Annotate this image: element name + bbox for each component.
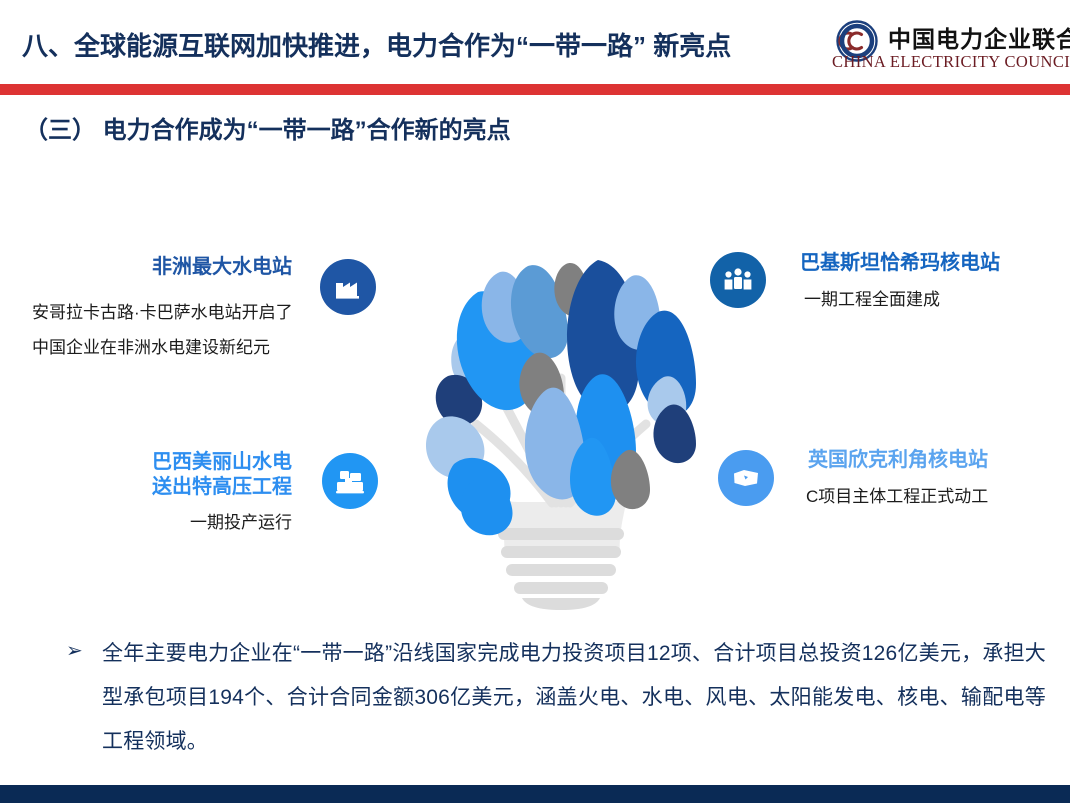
footer-bar xyxy=(0,785,1070,803)
organization-logo: 中国电力企业联合会 CHINA ELECTRICITY COUNCIL xyxy=(830,18,1062,80)
feature-block-brazil: 巴西美丽山水电 送出特高压工程 一期投产运行 xyxy=(0,445,420,555)
feature-block-africa: 非洲最大水电站 安哥拉卡古路·卡巴萨水电站开启了中国企业在非洲水电建设新纪元 xyxy=(0,250,420,415)
logo-english-name: CHINA ELECTRICITY COUNCIL xyxy=(832,52,1070,72)
factory-icon xyxy=(320,259,376,315)
page-title: 八、全球能源互联网加快推进，电力合作为“一带一路” 新亮点 xyxy=(22,26,731,63)
feature-body-africa: 安哥拉卡古路·卡巴萨水电站开启了中国企业在非洲水电建设新纪元 xyxy=(32,295,300,365)
feature-heading-brazil-line1: 巴西美丽山水电 xyxy=(152,451,292,473)
feature-body-brazil: 一期投产运行 xyxy=(0,511,292,535)
transmission-tower-icon xyxy=(322,453,378,509)
document-icon xyxy=(718,450,774,506)
feature-block-pakistan: 巴基斯坦恰希玛核电站 一期工程全面建成 xyxy=(708,248,1070,358)
feature-heading-brazil: 巴西美丽山水电 送出特高压工程 xyxy=(0,450,292,500)
leaf-lightbulb-illustration xyxy=(418,228,704,610)
slide-header: 八、全球能源互联网加快推进，电力合作为“一带一路” 新亮点 中国电力企业联合会 … xyxy=(0,0,1070,84)
summary-text: 全年主要电力企业在“一带一路”沿线国家完成电力投资项目12项、合计项目总投资12… xyxy=(102,632,1046,764)
section-title: （三） 电力合作成为“一带一路”合作新的亮点 xyxy=(24,110,511,145)
feature-heading-brazil-line2: 送出特高压工程 xyxy=(152,476,292,498)
feature-heading-pakistan: 巴基斯坦恰希玛核电站 xyxy=(800,252,1000,274)
feature-heading-uk: 英国欣克利角核电站 xyxy=(808,449,988,471)
feature-body-uk: C项目主体工程正式动工 xyxy=(806,485,988,509)
feature-heading-africa: 非洲最大水电站 xyxy=(0,256,292,278)
header-divider-rule xyxy=(0,84,1070,95)
people-group-icon xyxy=(710,252,766,308)
feature-body-pakistan: 一期工程全面建成 xyxy=(804,288,940,312)
logo-chinese-name: 中国电力企业联合会 xyxy=(888,20,1070,54)
feature-block-uk: 英国欣克利角核电站 C项目主体工程正式动工 xyxy=(708,446,1070,556)
bullet-arrow-icon: ➢ xyxy=(66,638,83,663)
